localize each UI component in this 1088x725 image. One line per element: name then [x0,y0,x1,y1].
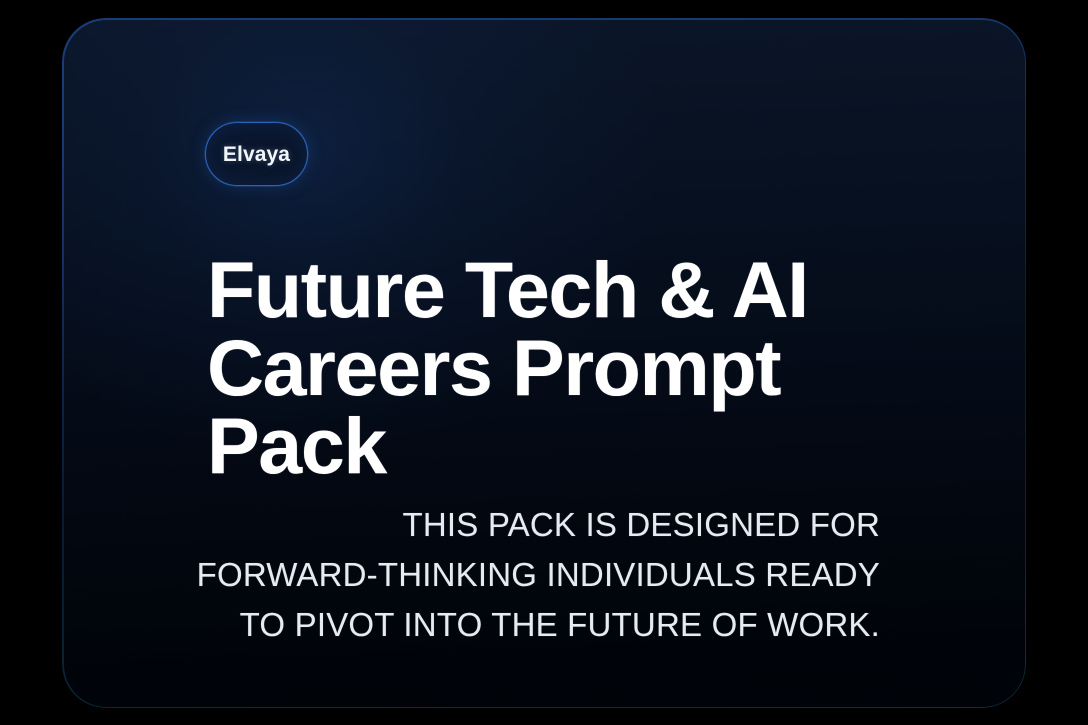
page-title: Future Tech & AI Careers Prompt Pack [207,251,967,486]
brand-badge-label: Elvaya [223,144,290,165]
brand-badge[interactable]: Elvaya [205,122,308,186]
subtitle-line-2: FORWARD-THINKING INDIVIDUALS READY [120,550,880,600]
subtitle: THIS PACK IS DESIGNED FOR FORWARD-THINKI… [120,500,880,650]
hero-card: Elvaya Future Tech & AI Careers Prompt P… [62,18,1026,708]
subtitle-line-1: THIS PACK IS DESIGNED FOR [120,500,880,550]
headline-line-3: Pack [207,407,967,485]
hero-content: Elvaya Future Tech & AI Careers Prompt P… [62,18,1026,708]
subtitle-line-3: TO PIVOT INTO THE FUTURE OF WORK. [120,600,880,650]
page-root: Elvaya Future Tech & AI Careers Prompt P… [0,0,1088,725]
headline-line-2: Careers Prompt [207,329,967,407]
headline-line-1: Future Tech & AI [207,251,967,329]
